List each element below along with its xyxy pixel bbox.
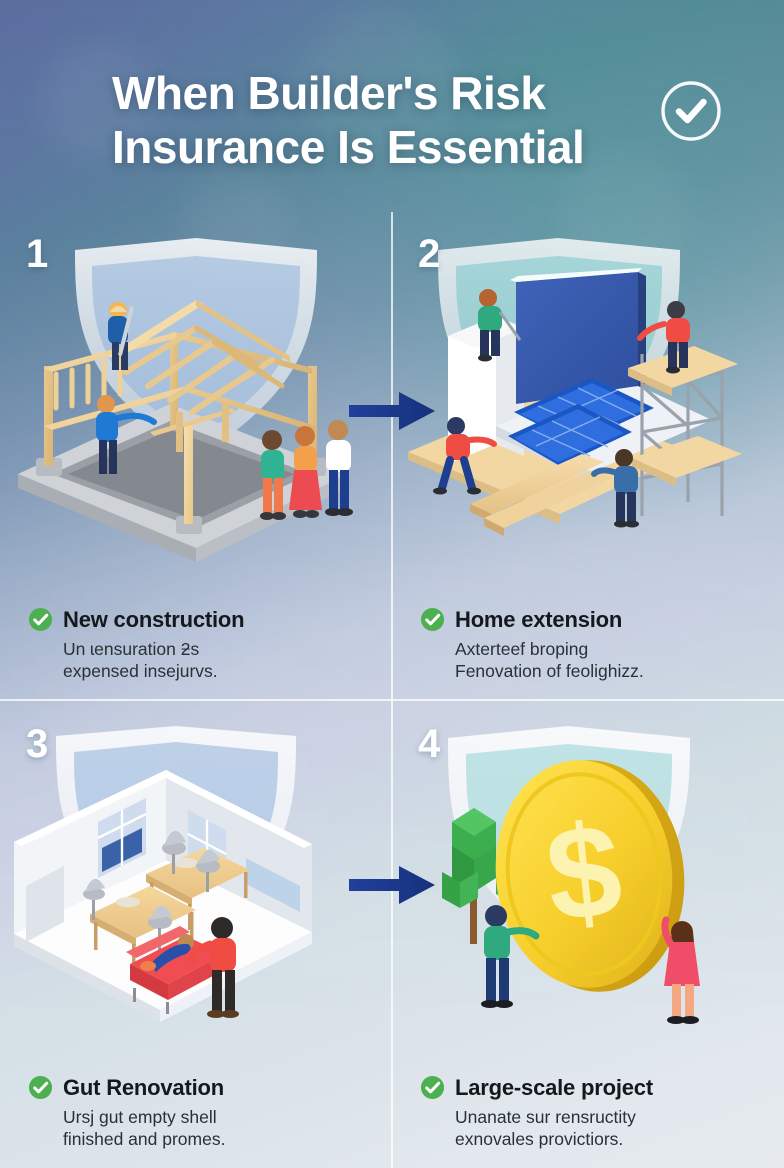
- panel-large-scale-project[interactable]: 4: [392, 700, 784, 1168]
- panel-gut-renovation[interactable]: 3: [0, 700, 392, 1168]
- caption-body-line-2: exnovales provictiors.: [455, 1128, 768, 1150]
- caption-body: Axterteef broping Fenovation of feolighi…: [420, 638, 768, 682]
- check-circle-filled-icon: [420, 607, 445, 632]
- title-line-1: When Builder's Risk: [112, 66, 672, 120]
- infographic-canvas: When Builder's Risk Insurance Is Essenti…: [0, 0, 784, 1168]
- caption-heading-row: Home extension: [420, 607, 768, 633]
- title-line-2: Insurance Is Essential: [112, 120, 672, 174]
- caption-body-line-1: Un ɩensuration ƻs: [63, 638, 376, 660]
- svg-text:$: $: [540, 796, 628, 950]
- step-number: 3: [26, 722, 48, 767]
- check-circle-filled-icon: [28, 607, 53, 632]
- caption-body: Unanate sur rensructity exnovales provic…: [420, 1106, 768, 1150]
- caption-body-line-2: Fenovation of feolighizz.: [455, 660, 768, 682]
- caption-title: Home extension: [455, 607, 622, 633]
- caption-body: Un ɩensuration ƻs expensed insejurvs.: [28, 638, 376, 682]
- caption-title: New construction: [63, 607, 244, 633]
- caption-new-construction: New construction Un ɩensuration ƻs expen…: [28, 607, 376, 682]
- check-circle-filled-icon: [420, 1075, 445, 1100]
- illustration-gold-dollar-coin-shield: $: [392, 726, 784, 1056]
- check-circle-filled-icon: [28, 1075, 53, 1100]
- caption-title: Gut Renovation: [63, 1075, 224, 1101]
- step-number: 2: [418, 232, 440, 277]
- arrow-step-1-to-2: [347, 388, 437, 434]
- arrow-step-3-to-4: [347, 862, 437, 908]
- header: When Builder's Risk Insurance Is Essenti…: [0, 0, 784, 210]
- caption-gut-renovation: Gut Renovation Ursj gut empty shell fini…: [28, 1075, 376, 1150]
- page-title: When Builder's Risk Insurance Is Essenti…: [112, 66, 672, 175]
- step-number: 4: [418, 722, 440, 767]
- caption-heading-row: New construction: [28, 607, 376, 633]
- panel-home-extension[interactable]: 2: [392, 210, 784, 700]
- caption-body-line-1: Ursj gut empty shell: [63, 1106, 376, 1128]
- panel-new-construction[interactable]: 1: [0, 210, 392, 700]
- caption-large-scale-project: Large-scale project Unanate sur rensruct…: [420, 1075, 768, 1150]
- panel-grid: 1: [0, 210, 784, 1168]
- illustration-home-extension-scaffolding: [392, 236, 784, 566]
- caption-body-line-2: expensed insejurvs.: [63, 660, 376, 682]
- step-number: 1: [26, 232, 48, 277]
- caption-body-line-1: Unanate sur rensructity: [455, 1106, 768, 1128]
- caption-body-line-2: finished and promes.: [63, 1128, 376, 1150]
- caption-body-line-1: Axterteef broping: [455, 638, 768, 660]
- illustration-interior-cutaway-room: [0, 726, 392, 1056]
- caption-heading-row: Large-scale project: [420, 1075, 768, 1101]
- illustration-house-frame-construction: [0, 236, 392, 566]
- caption-home-extension: Home extension Axterteef broping Fenovat…: [420, 607, 768, 682]
- caption-heading-row: Gut Renovation: [28, 1075, 376, 1101]
- caption-title: Large-scale project: [455, 1075, 653, 1101]
- caption-body: Ursj gut empty shell finished and promes…: [28, 1106, 376, 1150]
